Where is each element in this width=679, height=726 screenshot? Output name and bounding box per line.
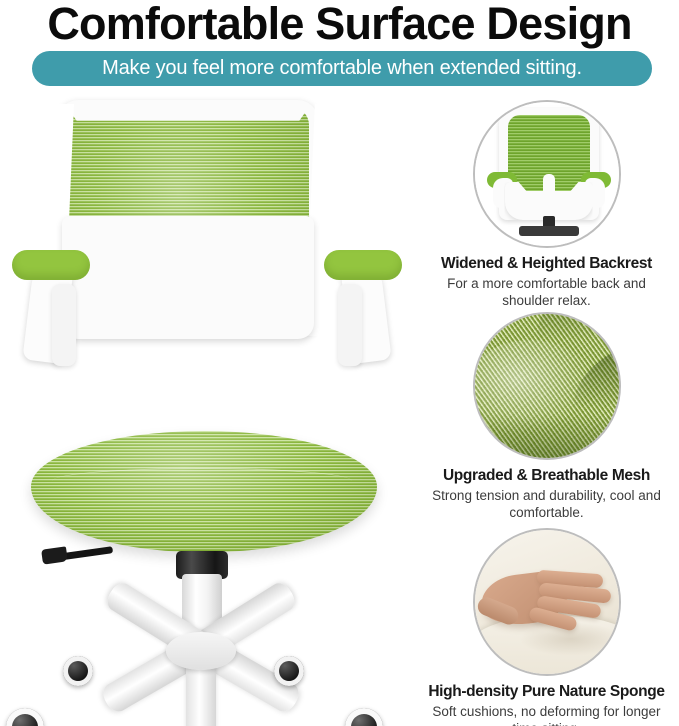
feature-list: Widened & Heighted Backrest For a more c… <box>414 100 679 726</box>
armrest-right <box>300 250 408 362</box>
feature-description: Strong tension and durability, cool and … <box>414 487 679 521</box>
seat-seam <box>52 468 352 494</box>
subtitle-banner: Make you feel more comfortable when exte… <box>32 51 652 86</box>
sponge-thumbnail-icon <box>473 528 621 676</box>
feature-title: Widened & Heighted Backrest <box>414 254 679 274</box>
feature-title: High-density Pure Nature Sponge <box>414 682 679 702</box>
chair-hero-image <box>0 96 424 726</box>
feature-title: Upgraded & Breathable Mesh <box>414 466 679 486</box>
caster-wheel <box>274 656 304 686</box>
feature-item-mesh: Upgraded & Breathable Mesh Strong tensio… <box>414 312 679 521</box>
caster-wheel <box>6 708 44 726</box>
base-hub <box>166 632 236 670</box>
product-feature-page: Comfortable Surface Design Make you feel… <box>0 0 679 726</box>
feature-description: For a more comfortable back and shoulder… <box>414 275 679 309</box>
tilt-lever-knob <box>41 546 68 564</box>
armrest-right-pad <box>324 250 402 280</box>
backrest-thumbnail-icon <box>473 100 621 248</box>
subtitle-text: Make you feel more comfortable when exte… <box>102 57 582 80</box>
caster-wheel <box>345 708 383 726</box>
mesh-bottom-shadow <box>475 414 619 460</box>
armrest-left <box>6 250 114 362</box>
feature-description: Soft cushions, no deforming for longer t… <box>414 703 679 726</box>
caster-wheel <box>63 656 93 686</box>
feature-item-backrest: Widened & Heighted Backrest For a more c… <box>414 100 679 309</box>
feature-item-sponge: High-density Pure Nature Sponge Soft cus… <box>414 528 679 726</box>
armrest-left-stem <box>52 284 76 366</box>
armrest-right-stem <box>338 284 362 366</box>
page-title: Comfortable Surface Design <box>0 0 679 50</box>
thumb-base <box>519 226 579 236</box>
thumb-lumbar-stem <box>543 174 555 208</box>
armrest-left-pad <box>12 250 90 280</box>
mesh-thumbnail-icon <box>473 312 621 460</box>
